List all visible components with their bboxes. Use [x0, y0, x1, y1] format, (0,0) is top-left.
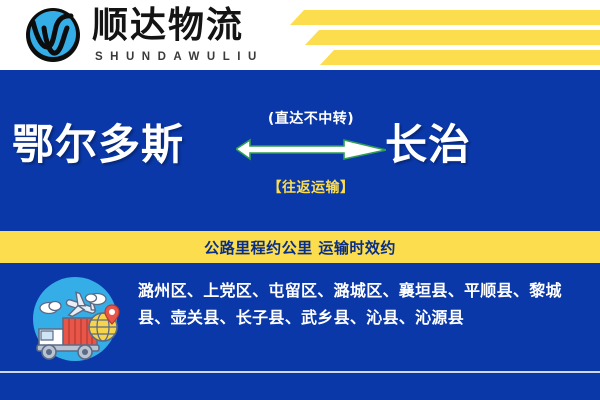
header-stripe-2 [305, 30, 600, 45]
footer-strip [0, 373, 600, 400]
route-band: 鄂尔多斯 (直达不中转) 【往返运输】 长治 [0, 70, 600, 225]
origin-city: 鄂尔多斯 [12, 120, 184, 170]
header-stripe-1 [290, 10, 600, 25]
destination-city: 长治 [385, 120, 471, 170]
double-headed-arrow-icon [236, 135, 386, 173]
circular-swoosh-logo-icon [22, 4, 84, 66]
brand-logo: 顺达物流 SHUNDAWULIU [22, 4, 264, 66]
direct-service-note: (直达不中转) [236, 110, 386, 128]
brand-text: 顺达物流 SHUNDAWULIU [92, 4, 264, 64]
round-trip-note: 【往返运输】 [236, 179, 386, 197]
distance-duration-text: 公路里程约公里 运输时效约 [204, 237, 396, 258]
logistics-truck-plane-globe-icon [27, 271, 123, 367]
poster-header: 顺达物流 SHUNDAWULIU [0, 0, 600, 70]
coverage-section: 潞州区、上党区、屯留区、潞城区、襄垣县、平顺县、黎城县、壶关县、长子县、武乡县、… [0, 263, 600, 373]
header-stripe-3 [320, 50, 600, 65]
brand-name-en: SHUNDAWULIU [92, 50, 264, 64]
distance-duration-banner: 公路里程约公里 运输时效约 [0, 231, 600, 263]
header-stripes [280, 0, 600, 70]
logistics-route-poster: 顺达物流 SHUNDAWULIU 鄂尔多斯 (直达不中转) 【往返运输】 长治 … [0, 0, 600, 400]
coverage-districts: 潞州区、上党区、屯留区、潞城区、襄垣县、平顺县、黎城县、壶关县、长子县、武乡县、… [138, 277, 586, 331]
brand-name-cn: 顺达物流 [92, 6, 264, 46]
route-middle: (直达不中转) 【往返运输】 [236, 110, 386, 197]
